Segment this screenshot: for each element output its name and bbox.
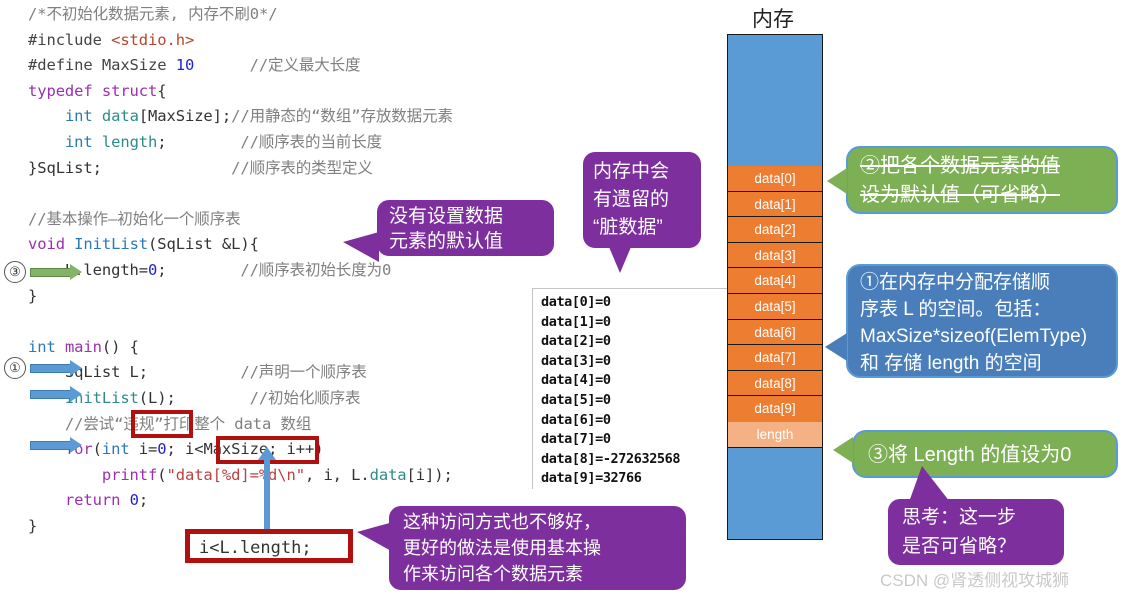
code-token (102, 159, 231, 177)
code-token: printf (102, 466, 157, 484)
code-token: //顺序表的类型定义 (231, 159, 373, 177)
callout-think-tail (909, 466, 950, 502)
code-line-4: int data[MaxSize];//用静态的“数组”存放数据元素 (28, 104, 453, 130)
callout-step2-defaults: ②把各个数据元素的值 设为默认值（可省略） (846, 146, 1118, 214)
code-token (176, 389, 250, 407)
code-token (93, 133, 102, 151)
callout-step1-allocate: ①在内存中分配存储顺 序表 L 的空间。包括： MaxSize*sizeof(E… (846, 264, 1118, 378)
console-line-6: data[6]=0 (541, 411, 731, 431)
code-token (148, 363, 240, 381)
code-token: //初始化顺序表 (250, 389, 361, 407)
callout-step3-tail (833, 437, 853, 463)
code-token (120, 491, 129, 509)
code-token: length (102, 133, 157, 151)
callout-better-way-tail (357, 522, 393, 552)
code-token: ( (93, 440, 102, 458)
vertical-pointer-head (258, 447, 276, 460)
code-line-5: int length; //顺序表的当前长度 (28, 130, 453, 156)
code-token: } (28, 517, 37, 535)
memory-cell-8: data[8] (728, 371, 822, 397)
code-token: #include (28, 31, 111, 49)
code-token: 0 (130, 491, 139, 509)
step-marker-1: ① (4, 357, 26, 379)
csdn-watermark: CSDN @肾透侧视攻城狮 (880, 566, 1069, 591)
callout-no-default-tail (343, 232, 379, 262)
callout-dirty-data: 内存中会 有遗留的 “脏数据” (583, 152, 701, 248)
console-line-1: data[1]=0 (541, 313, 731, 333)
memory-title: 内存 (723, 3, 823, 33)
code-token: () { (102, 338, 139, 356)
code-token: { (157, 82, 166, 100)
code-line-6: }SqList; //顺序表的类型定义 (28, 156, 453, 182)
code-line-11: } (28, 284, 453, 310)
code-token: #define MaxSize (28, 56, 176, 74)
code-line-13: int main() { (28, 335, 453, 361)
memory-cell-length: length (728, 422, 822, 448)
code-line-0: /*不初始化数据元素, 内存不刷0*/ (28, 2, 453, 28)
blue-arrow-for-loop (30, 437, 82, 453)
code-token (28, 466, 102, 484)
code-token: int (28, 338, 56, 356)
code-token: [MaxSize]; (139, 107, 231, 125)
code-token (28, 133, 65, 151)
code-token: int (65, 133, 93, 151)
memory-cell-7: data[7] (728, 345, 822, 371)
code-line-14: SqList L; //声明一个顺序表 (28, 360, 453, 386)
code-token (194, 56, 249, 74)
code-token (93, 107, 102, 125)
code-token: //顺序表的当前长度 (240, 133, 382, 151)
memory-free-bottom (728, 448, 822, 539)
callout-dirty-data-tail (609, 247, 631, 273)
callout-better-way: 这种访问方式也不够好， 更好的做法是使用基本操 作来访问各个数据元素 (389, 506, 686, 590)
step-marker-3: ③ (4, 261, 26, 283)
console-line-4: data[4]=0 (541, 371, 731, 391)
callout-step3-set-length: ③将 Length 的值设为0 (852, 430, 1118, 478)
code-token: ; (157, 133, 166, 151)
code-line-18: printf("data[%d]=%d\n", i, L.data[i]); (28, 463, 453, 489)
code-token: //声明一个顺序表 (240, 363, 366, 381)
code-token (28, 107, 65, 125)
suggested-condition-box: i<L.length; (185, 529, 353, 563)
code-token (28, 491, 65, 509)
memory-cell-3: data[3] (728, 243, 822, 269)
code-token (65, 235, 74, 253)
vertical-pointer-shaft (264, 458, 270, 530)
console-output-panel: data[0]=0data[1]=0data[2]=0data[3]=0data… (532, 288, 731, 489)
console-line-9: data[9]=32766 (541, 469, 731, 489)
code-token: <stdio.h> (111, 31, 194, 49)
code-token: //定义最大长度 (250, 56, 361, 74)
code-token: data (370, 466, 407, 484)
code-token (167, 133, 241, 151)
callout-step2-tail (827, 168, 847, 194)
blue-arrow-declare (30, 360, 82, 376)
code-token: data (102, 107, 139, 125)
code-token: (L); (139, 389, 176, 407)
code-token: //顺序表初始长度为0 (240, 261, 391, 279)
code-token: void (28, 235, 65, 253)
callout-think: 思考：这一步 是否可省略？ (888, 499, 1064, 565)
code-token: /*不初始化数据元素, 内存不刷0*/ (28, 5, 277, 23)
memory-column: data[0]data[1]data[2]data[3]data[4]data[… (727, 34, 823, 540)
code-token (56, 338, 65, 356)
memory-cell-1: data[1] (728, 192, 822, 218)
console-line-7: data[7]=0 (541, 430, 731, 450)
highlight-box-violation (131, 410, 193, 438)
code-line-1: #include <stdio.h> (28, 28, 453, 54)
memory-cell-2: data[2] (728, 217, 822, 243)
code-line-15: InitList(L); //初始化顺序表 (28, 386, 453, 412)
code-line-16: //尝试“违规”打印整个 data 数组 (28, 412, 453, 438)
code-token: int (65, 107, 93, 125)
callout-no-default-value: 没有设置数据 元素的默认值 (377, 200, 554, 256)
code-token: int (102, 440, 130, 458)
callout-step1-tail (825, 333, 847, 361)
memory-cell-6: data[6] (728, 320, 822, 346)
green-arrow-init-length (30, 264, 82, 280)
code-token: 0 (157, 440, 166, 458)
code-line-12 (28, 309, 453, 335)
code-token: (SqList &L){ (148, 235, 259, 253)
code-token (93, 82, 102, 100)
console-line-5: data[5]=0 (541, 391, 731, 411)
console-line-0: data[0]=0 (541, 293, 731, 313)
code-line-19: return 0; (28, 488, 453, 514)
code-token: typedef (28, 82, 93, 100)
console-line-2: data[2]=0 (541, 332, 731, 352)
code-token: i= (130, 440, 158, 458)
blue-arrow-initlist-call (30, 386, 82, 402)
memory-cell-0: data[0] (728, 166, 822, 192)
code-token: ; (139, 491, 148, 509)
console-line-3: data[3]=0 (541, 352, 731, 372)
slide-canvas: /*不初始化数据元素, 内存不刷0*/#include <stdio.h>#de… (0, 0, 1127, 594)
memory-cell-4: data[4] (728, 268, 822, 294)
code-token: , i, L. (305, 466, 370, 484)
code-token: 0 (148, 261, 157, 279)
code-token (166, 261, 240, 279)
memory-free-top (728, 35, 822, 166)
memory-cell-9: data[9] (728, 396, 822, 422)
console-line-8: data[8]=-272632568 (541, 450, 731, 470)
code-line-3: typedef struct{ (28, 79, 453, 105)
code-token: main (65, 338, 102, 356)
code-token: ( (157, 466, 166, 484)
code-token: }SqList; (28, 159, 102, 177)
code-token: struct (102, 82, 157, 100)
code-line-10: L.length=0; //顺序表初始长度为0 (28, 258, 453, 284)
code-line-2: #define MaxSize 10 //定义最大长度 (28, 53, 453, 79)
code-token: "data[%d]=%d\n" (167, 466, 305, 484)
code-token: [i]); (407, 466, 453, 484)
code-token: 10 (176, 56, 194, 74)
code-token: return (65, 491, 120, 509)
code-token: } (28, 287, 37, 305)
code-token: InitList (74, 235, 148, 253)
memory-cell-5: data[5] (728, 294, 822, 320)
code-token: //用静态的“数组”存放数据元素 (231, 107, 453, 125)
code-token: //基本操作—初始化一个顺序表 (28, 210, 241, 228)
